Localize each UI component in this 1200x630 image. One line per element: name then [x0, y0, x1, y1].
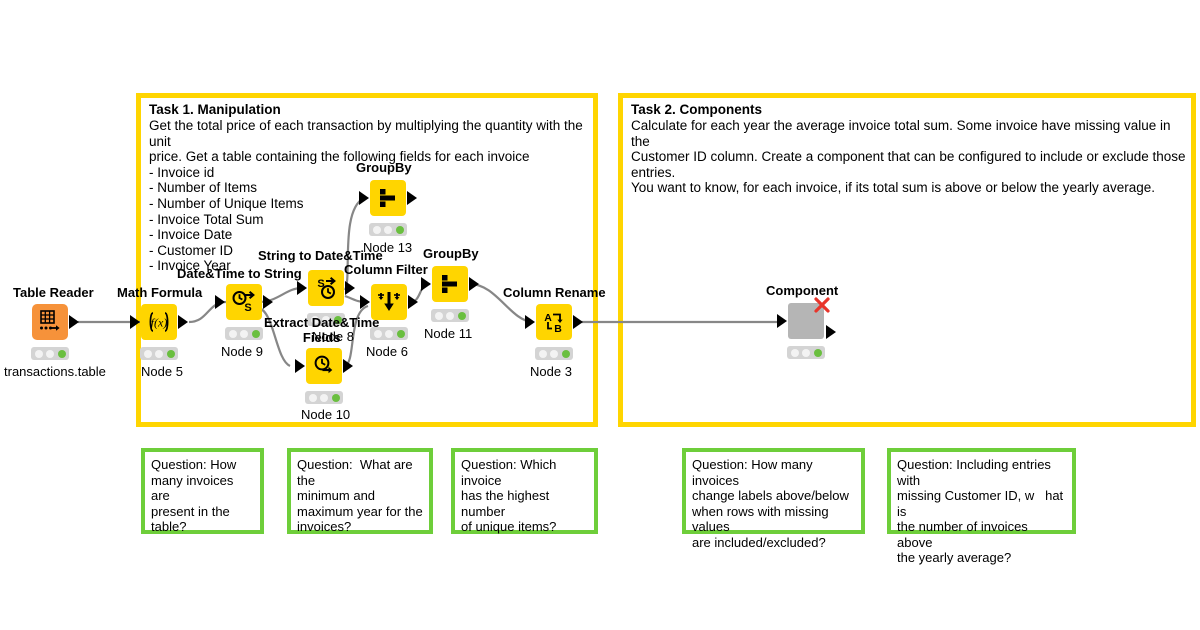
- math-formula-icon[interactable]: f(x): [141, 304, 177, 340]
- extract-datetime-fields-in-port[interactable]: [295, 359, 305, 373]
- node-table-reader-name: transactions.table: [4, 364, 106, 379]
- extract-datetime-fields-out-port[interactable]: [343, 359, 353, 373]
- groupby-icon[interactable]: [432, 266, 468, 302]
- column-rename-out-port[interactable]: [573, 315, 583, 329]
- datetime-to-string-icon[interactable]: S: [226, 284, 262, 320]
- node-groupby-top-label: GroupBy: [356, 160, 412, 175]
- node-math-formula-label: Math Formula: [117, 285, 202, 300]
- status-led-3: [252, 330, 260, 338]
- groupby-glyph: [376, 186, 400, 210]
- node-column-filter-name: Node 6: [366, 344, 408, 359]
- table-reader-out-port[interactable]: [69, 315, 79, 329]
- table-reader-icon[interactable]: [32, 304, 68, 340]
- status-led-1: [435, 312, 443, 320]
- column-filter-glyph: [376, 289, 402, 315]
- datetime-to-string-out-port[interactable]: [263, 295, 273, 309]
- groupby-right-out-port[interactable]: [469, 277, 479, 291]
- component-error-icon: [813, 296, 831, 314]
- string-to-datetime-icon[interactable]: S: [308, 270, 344, 306]
- status-led-2: [155, 350, 163, 358]
- column-rename-status: [535, 347, 573, 360]
- component-in-port[interactable]: [777, 314, 787, 328]
- svg-text:f(x): f(x): [151, 316, 168, 330]
- column-filter-icon[interactable]: [371, 284, 407, 320]
- status-led-1: [539, 350, 547, 358]
- status-led-1: [373, 226, 381, 234]
- groupby-icon[interactable]: [370, 180, 406, 216]
- node-datetime-to-string-name: Node 9: [221, 344, 263, 359]
- status-led-2: [384, 226, 392, 234]
- extract-datetime-fields-icon[interactable]: [306, 348, 342, 384]
- node-datetime-to-string-label: Date&Time to String: [177, 266, 302, 281]
- status-led-2: [240, 330, 248, 338]
- status-led-2: [550, 350, 558, 358]
- node-groupby-right-label: GroupBy: [423, 246, 479, 261]
- node-column-rename-name: Node 3: [530, 364, 572, 379]
- table-reader-status: [31, 347, 69, 360]
- status-led-3: [458, 312, 466, 320]
- status-led-1: [35, 350, 43, 358]
- node-column-rename-label: Column Rename: [503, 285, 606, 300]
- groupby-right-status: [431, 309, 469, 322]
- status-led-1: [374, 330, 382, 338]
- status-led-1: [309, 394, 317, 402]
- node-extract-datetime-fields-label: Extract Date&Time Fields: [264, 315, 379, 345]
- datetime-to-string-glyph: S: [231, 289, 257, 315]
- extract-datetime-fields-status: [305, 391, 343, 404]
- math-formula-glyph: f(x): [147, 310, 171, 334]
- datetime-to-string-status: [225, 327, 263, 340]
- status-led-1: [144, 350, 152, 358]
- component-status: [787, 346, 825, 359]
- task-1-title: Task 1. Manipulation: [149, 102, 593, 118]
- status-led-3: [397, 330, 405, 338]
- status-led-1: [229, 330, 237, 338]
- column-rename-icon[interactable]: A B: [536, 304, 572, 340]
- groupby-right-in-port[interactable]: [421, 277, 431, 291]
- status-led-2: [385, 330, 393, 338]
- status-led-3: [562, 350, 570, 358]
- status-led-1: [791, 349, 799, 357]
- node-math-formula-name: Node 5: [141, 364, 183, 379]
- string-to-datetime-in-port[interactable]: [297, 281, 307, 295]
- workflow-canvas: Task 1. Manipulation Get the total price…: [0, 0, 1200, 630]
- svg-text:B: B: [554, 323, 562, 335]
- status-led-3: [332, 394, 340, 402]
- groupby-top-in-port[interactable]: [359, 191, 369, 205]
- status-led-2: [46, 350, 54, 358]
- component-out-port[interactable]: [826, 325, 836, 339]
- status-led-3: [58, 350, 66, 358]
- status-led-3: [814, 349, 822, 357]
- task-2-title: Task 2. Components: [631, 102, 1191, 118]
- extract-datetime-fields-glyph: [311, 353, 337, 379]
- status-led-2: [446, 312, 454, 320]
- groupby-top-out-port[interactable]: [407, 191, 417, 205]
- datetime-to-string-in-port[interactable]: [215, 295, 225, 309]
- column-filter-out-port[interactable]: [408, 295, 418, 309]
- table-reader-glyph: [37, 309, 63, 335]
- string-to-datetime-out-port[interactable]: [345, 281, 355, 295]
- math-formula-out-port[interactable]: [178, 315, 188, 329]
- status-led-2: [320, 394, 328, 402]
- status-led-2: [802, 349, 810, 357]
- node-groupby-top-name: Node 13: [363, 240, 412, 255]
- node-table-reader-label: Table Reader: [13, 285, 94, 300]
- node-column-filter-label: Column Filter: [344, 262, 428, 277]
- string-to-datetime-glyph: S: [313, 275, 339, 301]
- math-formula-in-port[interactable]: [130, 315, 140, 329]
- node-extract-datetime-fields-name: Node 10: [301, 407, 350, 422]
- column-rename-in-port[interactable]: [525, 315, 535, 329]
- node-groupby-right-name: Node 11: [424, 326, 472, 341]
- math-formula-status: [140, 347, 178, 360]
- column-rename-glyph: A B: [541, 309, 567, 335]
- status-led-3: [167, 350, 175, 358]
- status-led-3: [396, 226, 404, 234]
- column-filter-in-port[interactable]: [360, 295, 370, 309]
- column-filter-status: [370, 327, 408, 340]
- task-2-body: Calculate for each year the average invo…: [631, 118, 1191, 196]
- svg-text:S: S: [244, 302, 251, 314]
- groupby-top-status: [369, 223, 407, 236]
- groupby-glyph: [438, 272, 462, 296]
